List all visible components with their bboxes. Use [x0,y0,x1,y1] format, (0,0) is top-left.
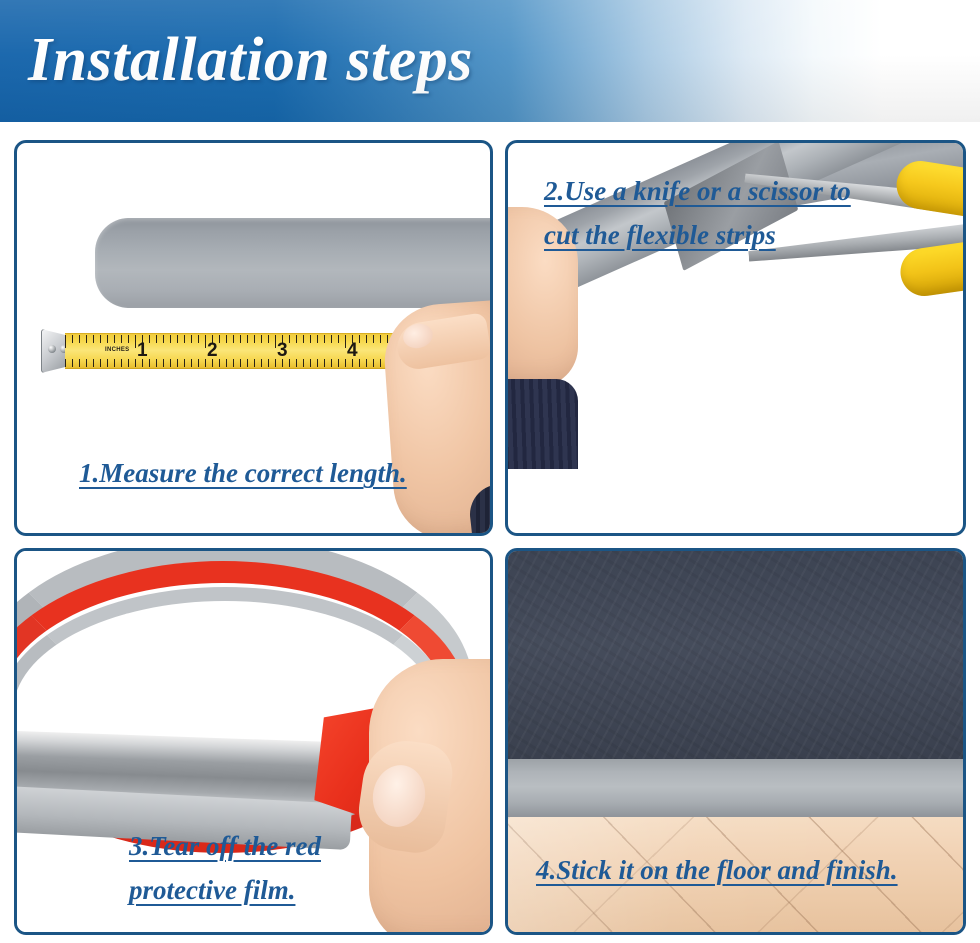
step-panel-1[interactable]: INCHES 1 2 3 4 5 1.Measure the correct l… [14,140,493,536]
tape-number-1: 1 [137,341,148,360]
tape-number-2: 2 [207,341,218,360]
sleeve-cuff [505,379,578,469]
step-1-caption: 1.Measure the correct length. [79,451,407,495]
tape-hook-rivet-icon [48,345,56,353]
caption-line: cut the flexible strips [544,213,851,257]
header-banner: Installation steps [0,0,980,122]
step-4-caption: 4.Stick it on the floor and finish. [536,848,898,892]
steps-grid: INCHES 1 2 3 4 5 1.Measure the correct l… [0,122,980,943]
caption-line: protective film. [129,868,321,912]
caption-line: 3.Tear off the red [129,824,321,868]
page-title: Installation steps [28,22,473,98]
tape-number-4: 4 [347,341,358,360]
step-panel-4[interactable]: 4.Stick it on the floor and finish. [505,548,966,935]
caption-line: 2.Use a knife or a scissor to [544,169,851,213]
tape-number-3: 3 [277,341,288,360]
dark-wall-surface [508,551,963,759]
step-panel-2[interactable]: 2.Use a knife or a scissor to cut the fl… [505,140,966,536]
scissors-handle-upper [893,158,966,229]
step-panel-3[interactable]: 3.Tear off the red protective film. [14,548,493,935]
installed-gray-strip [508,759,963,817]
step-2-caption: 2.Use a knife or a scissor to cut the fl… [544,169,851,257]
gray-flexible-strip [95,218,493,308]
caption-line: 1.Measure the correct length. [79,451,407,495]
step-3-caption: 3.Tear off the red protective film. [129,824,321,912]
tape-unit-label: INCHES [105,347,129,353]
caption-line: 4.Stick it on the floor and finish. [536,848,898,892]
